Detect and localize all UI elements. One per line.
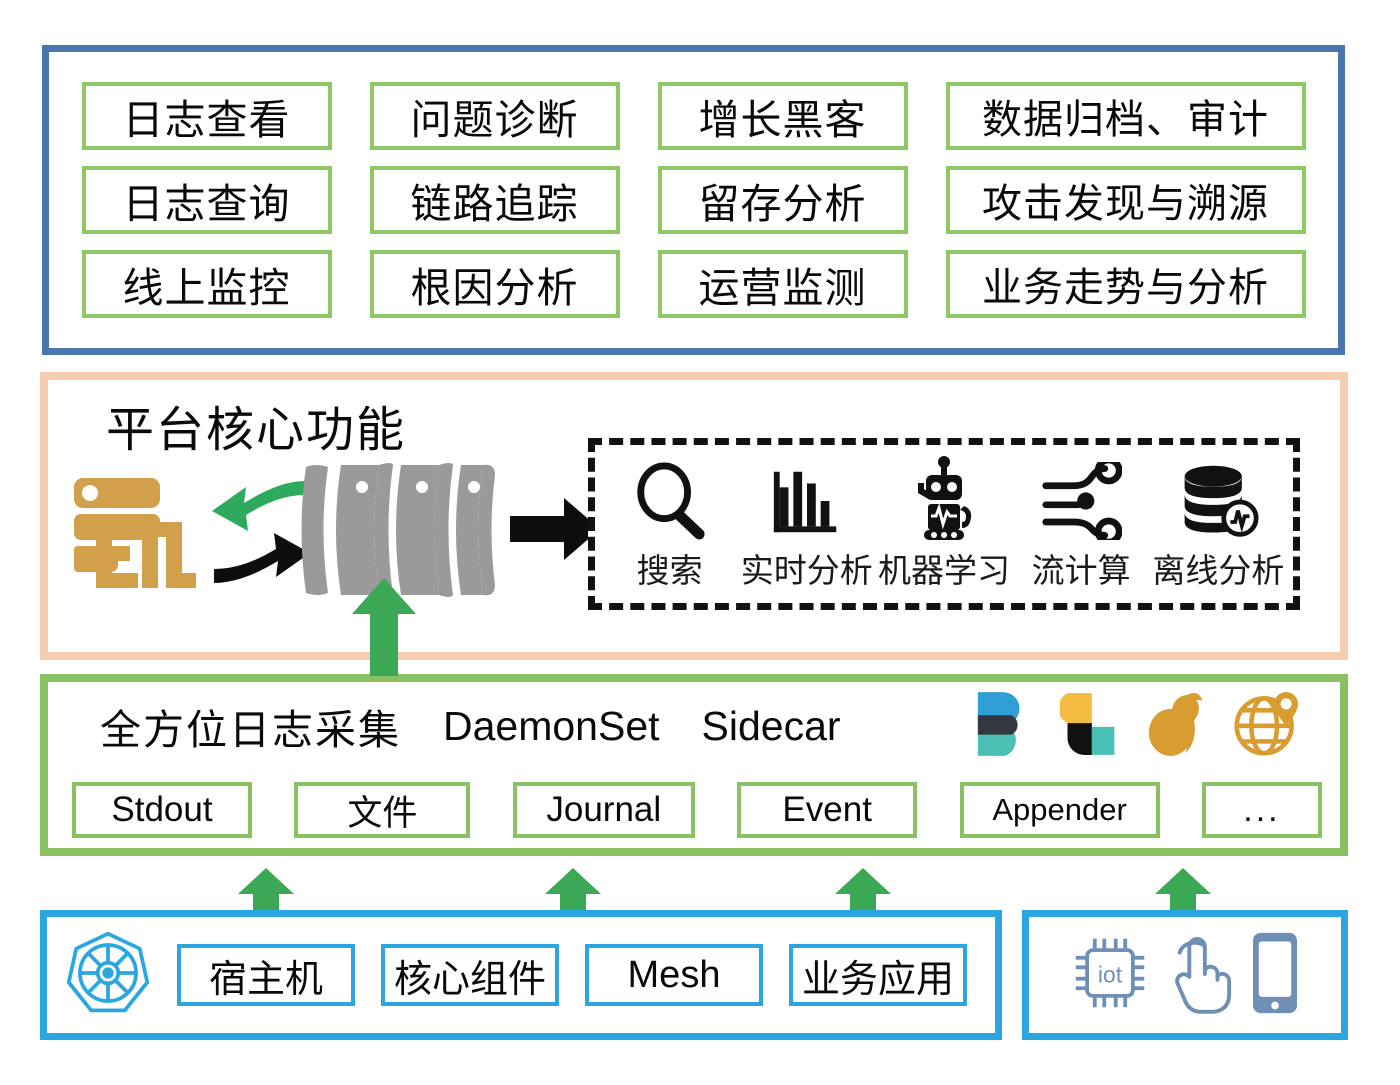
scenario-label: 日志查看 bbox=[123, 86, 291, 146]
logstash-logo bbox=[1060, 690, 1120, 763]
scenario-box[interactable]: 日志查询 bbox=[82, 166, 332, 234]
scenario-label: 攻击发现与溯源 bbox=[982, 171, 1269, 229]
scenario-label: 问题诊断 bbox=[411, 86, 579, 146]
scenario-label: 日志查询 bbox=[123, 170, 291, 230]
capability-label: 机器学习 bbox=[878, 544, 1010, 592]
capability-label: 流计算 bbox=[1032, 544, 1131, 592]
capabilities-dashed-box: 搜索 实时分析 bbox=[588, 438, 1300, 610]
log-source-label: 文件 bbox=[347, 785, 417, 836]
kubernetes-helm-icon bbox=[65, 930, 151, 1021]
infrastructure-panel-right: iot bbox=[1022, 910, 1348, 1040]
infra-item-box[interactable]: 宿主机 bbox=[177, 944, 355, 1006]
capability-item[interactable]: 离线分析 bbox=[1150, 456, 1286, 592]
capability-label: 搜索 bbox=[637, 544, 703, 592]
scenario-box[interactable]: 留存分析 bbox=[658, 166, 908, 234]
scenario-label: 留存分析 bbox=[699, 170, 867, 230]
scenario-label: 链路追踪 bbox=[411, 170, 579, 230]
globe-pin-logo bbox=[1234, 690, 1298, 763]
infra-item-label: 宿主机 bbox=[209, 948, 323, 1003]
infra-item-box[interactable]: 业务应用 bbox=[789, 944, 967, 1006]
scenario-label: 增长黑客 bbox=[699, 86, 867, 146]
capability-item[interactable]: 实时分析 bbox=[739, 456, 875, 592]
infrastructure-items: 宿主机 核心组件 Mesh 业务应用 bbox=[47, 917, 995, 1033]
scenario-label: 业务走势与分析 bbox=[982, 255, 1269, 313]
offline-database-icon bbox=[1177, 456, 1259, 540]
log-source-label: Journal bbox=[546, 790, 661, 830]
infra-item-box[interactable]: Mesh bbox=[585, 944, 763, 1006]
robot-icon bbox=[904, 456, 984, 540]
scenario-box[interactable]: 攻击发现与溯源 bbox=[946, 166, 1306, 234]
log-source-box[interactable]: Appender bbox=[960, 782, 1160, 838]
scenario-box[interactable]: 日志查看 bbox=[82, 82, 332, 150]
log-collection-panel: 全方位日志采集 DaemonSet Sidecar bbox=[40, 674, 1348, 856]
etl-icon bbox=[66, 470, 196, 595]
scenario-box[interactable]: 增长黑客 bbox=[658, 82, 908, 150]
scenarios-panel: 日志查看 问题诊断 增长黑客 数据归档、审计 日志查询 链路追踪 留存分析 攻击… bbox=[42, 45, 1345, 355]
vendor-logos bbox=[974, 690, 1298, 763]
search-icon bbox=[631, 456, 709, 540]
capability-item[interactable]: 机器学习 bbox=[876, 456, 1012, 592]
beats-logo bbox=[974, 690, 1034, 763]
scenario-box[interactable]: 线上监控 bbox=[82, 250, 332, 318]
touch-hand-icon bbox=[1166, 931, 1234, 1020]
scenario-box[interactable]: 运营监测 bbox=[658, 250, 908, 318]
iot-chip-text: iot bbox=[1098, 961, 1123, 987]
log-source-box[interactable]: Event bbox=[737, 782, 917, 838]
scenario-label: 数据归档、审计 bbox=[982, 87, 1269, 145]
infra-item-box[interactable]: 核心组件 bbox=[381, 944, 559, 1006]
filebeat-beetle-logo bbox=[1146, 690, 1208, 763]
collection-daemonset-label: DaemonSet bbox=[443, 703, 660, 750]
infra-item-label: 业务应用 bbox=[802, 948, 954, 1003]
capability-label: 离线分析 bbox=[1152, 544, 1284, 592]
capability-label: 实时分析 bbox=[741, 544, 873, 592]
log-source-label: Event bbox=[782, 790, 872, 830]
log-sources-row: Stdout 文件 Journal Event Appender ... bbox=[72, 782, 1322, 838]
diagram-canvas: 日志查看 问题诊断 增长黑客 数据归档、审计 日志查询 链路追踪 留存分析 攻击… bbox=[0, 0, 1400, 1085]
log-source-label: Stdout bbox=[111, 790, 212, 830]
capability-item[interactable]: 流计算 bbox=[1013, 456, 1149, 592]
scenario-box[interactable]: 数据归档、审计 bbox=[946, 82, 1306, 150]
infrastructure-panel-left: 宿主机 核心组件 Mesh 业务应用 bbox=[40, 910, 1002, 1040]
capability-item[interactable]: 搜索 bbox=[602, 456, 738, 592]
scenario-box[interactable]: 业务走势与分析 bbox=[946, 250, 1306, 318]
scenario-box[interactable]: 问题诊断 bbox=[370, 82, 620, 150]
bar-chart-icon bbox=[768, 456, 846, 540]
log-source-more-box[interactable]: ... bbox=[1202, 782, 1322, 838]
log-source-box[interactable]: 文件 bbox=[294, 782, 470, 838]
infra-item-label: Mesh bbox=[628, 954, 721, 997]
core-platform-panel: 平台核心功能 bbox=[40, 372, 1348, 660]
log-source-label: ... bbox=[1243, 791, 1280, 830]
mobile-phone-icon bbox=[1250, 930, 1300, 1021]
scenario-box[interactable]: 链路追踪 bbox=[370, 166, 620, 234]
stream-compute-icon bbox=[1040, 456, 1122, 540]
green-curved-arrow bbox=[212, 481, 306, 531]
collection-sidecar-label: Sidecar bbox=[702, 703, 841, 750]
scenario-label: 线上监控 bbox=[123, 254, 291, 314]
scenarios-grid: 日志查看 问题诊断 增长黑客 数据归档、审计 日志查询 链路追踪 留存分析 攻击… bbox=[49, 52, 1338, 348]
scenario-box[interactable]: 根因分析 bbox=[370, 250, 620, 318]
collection-headline: 全方位日志采集 DaemonSet Sidecar bbox=[100, 696, 841, 756]
infra-item-label: 核心组件 bbox=[394, 948, 546, 1003]
log-source-box[interactable]: Stdout bbox=[72, 782, 252, 838]
collection-to-database-arrow-icon bbox=[352, 578, 416, 676]
log-source-label: Appender bbox=[992, 792, 1126, 828]
db-to-capabilities-arrow-icon bbox=[510, 498, 600, 560]
core-platform-title: 平台核心功能 bbox=[106, 390, 406, 460]
scenario-label: 根因分析 bbox=[411, 254, 579, 314]
scenario-label: 运营监测 bbox=[699, 254, 867, 314]
iot-chip-icon: iot bbox=[1070, 933, 1150, 1018]
device-icons: iot bbox=[1029, 917, 1341, 1033]
collection-headline-cn: 全方位日志采集 bbox=[100, 696, 401, 756]
log-source-box[interactable]: Journal bbox=[513, 782, 695, 838]
